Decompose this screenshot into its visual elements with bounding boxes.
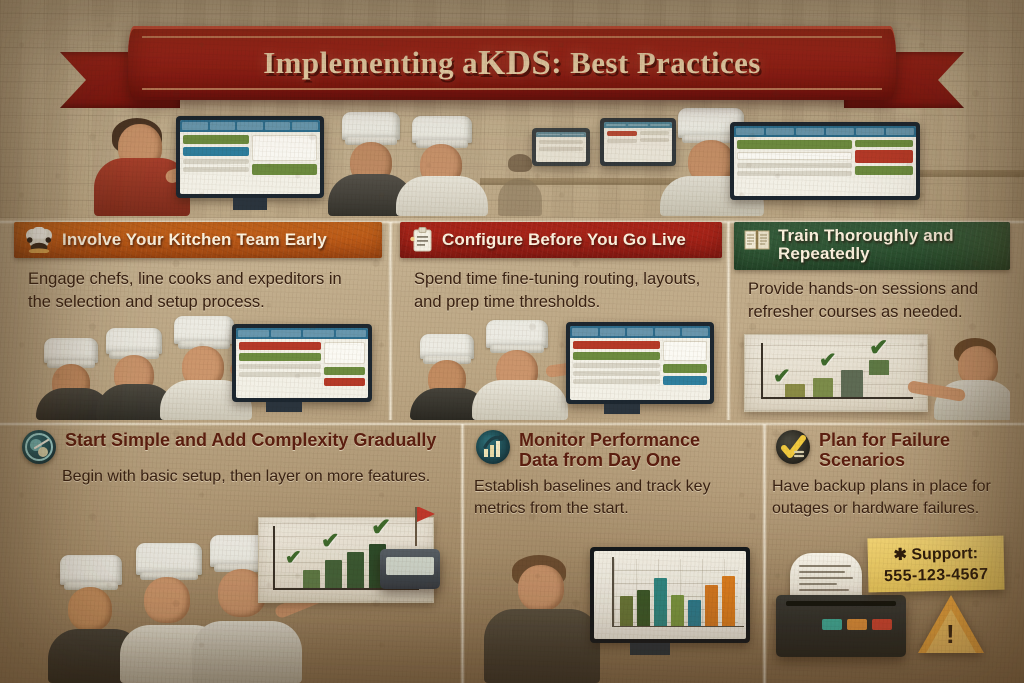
hair xyxy=(508,154,532,172)
checkmark-icon: ✔ xyxy=(869,336,888,359)
checkmark-icon xyxy=(776,430,810,464)
chart-bar xyxy=(620,596,633,626)
chef-hat-icon xyxy=(24,227,54,253)
kds-toolbar xyxy=(734,126,916,137)
checkmark-icon: ✔ xyxy=(819,350,837,371)
page-title: Implementing a KDS: Best Practices xyxy=(128,29,896,97)
kds-screen xyxy=(180,120,320,194)
chef-hat-icon xyxy=(486,320,548,348)
panel-2-body: Spend time fine-tuning routing, layouts,… xyxy=(400,258,722,314)
torso xyxy=(498,178,542,216)
torso xyxy=(192,621,302,683)
chef-hat-icon xyxy=(342,112,400,140)
checkmark-icon: ✔ xyxy=(285,548,302,568)
clipboard-icon xyxy=(410,227,434,253)
kds-terminal-box xyxy=(380,549,440,589)
chart-bar xyxy=(637,590,650,626)
analytics-monitor xyxy=(590,547,750,643)
panel-2-header: Configure Before You Go Live xyxy=(400,222,722,258)
chart-bar xyxy=(654,578,667,626)
panel-train-thoroughly[interactable]: Train Thoroughly and Repeatedly Provide … xyxy=(734,222,1010,420)
open-book-icon xyxy=(744,228,770,251)
analyst-figure xyxy=(484,551,600,683)
panel-6-body: Have backup plans in place for outages o… xyxy=(768,470,1012,520)
panel-6-illustration: ✱ Support: 555-123-4567 ! xyxy=(768,533,1012,683)
kds-tickets xyxy=(180,132,320,194)
torso xyxy=(396,176,488,216)
title-text-kds: KDS xyxy=(478,43,551,83)
panel-3-title: Train Thoroughly and Repeatedly xyxy=(778,227,988,264)
panel-divider-2 xyxy=(726,222,731,420)
panel-start-simple[interactable]: Start Simple and Add Complexity Graduall… xyxy=(14,424,458,683)
chart-bar xyxy=(325,560,342,588)
panel-plan-for-failure[interactable]: Plan for Failure Scenarios Have backup p… xyxy=(768,424,1012,683)
chart-bar xyxy=(813,378,833,397)
panel-5-illustration xyxy=(468,535,758,683)
chef-hat-icon xyxy=(106,328,162,354)
chart-axis-y xyxy=(273,526,275,590)
checkmark-icon: ✔ xyxy=(321,530,339,552)
hero-illustration xyxy=(0,104,1024,216)
panel-1-body: Engage chefs, line cooks and expeditors … xyxy=(14,258,382,314)
support-label: ✱ Support: xyxy=(893,543,978,565)
panel-monitor-performance[interactable]: Monitor Performance Data from Day One Es… xyxy=(468,424,758,683)
panel-divider-1 xyxy=(388,222,393,420)
bar-chart-icon xyxy=(476,430,510,464)
checkmark-icon: ✔ xyxy=(773,366,791,387)
chart-bar xyxy=(722,576,735,626)
kds-monitor-main xyxy=(176,116,324,198)
target-gauge-icon xyxy=(22,430,56,464)
chef-figure-2 xyxy=(396,114,488,216)
monitor-stand xyxy=(604,404,640,414)
panel-divider-4 xyxy=(762,424,767,683)
back-monitor-1 xyxy=(532,128,590,166)
panel-4-heading: Start Simple and Add Complexity Graduall… xyxy=(14,424,458,464)
panel-row-2: Start Simple and Add Complexity Graduall… xyxy=(0,424,1024,683)
monitor-stand xyxy=(266,402,302,412)
support-note: ✱ Support: 555-123-4567 xyxy=(867,536,1004,593)
paper-slot xyxy=(786,601,896,606)
chef-hat-icon xyxy=(420,334,474,359)
head xyxy=(144,577,190,623)
panel-3-illustration: ✔ ✔ ✔ xyxy=(734,328,1010,420)
kds-screen-wide xyxy=(734,126,916,196)
panel-1-header: Involve Your Kitchen Team Early xyxy=(14,222,382,258)
head xyxy=(68,587,112,631)
checkmark-icon: ✔ xyxy=(371,516,391,540)
analytics-chart xyxy=(594,551,746,639)
panel-2-title: Configure Before You Go Live xyxy=(442,231,686,249)
panel-4-illustration: ✔ ✔ ✔ xyxy=(14,507,458,683)
printer-buttons xyxy=(822,619,892,630)
title-text-part1: Implementing a xyxy=(263,45,478,81)
panel-1-illustration xyxy=(14,310,382,420)
panel-4-title: Start Simple and Add Complexity Graduall… xyxy=(65,430,436,450)
receipt-printer xyxy=(776,595,906,657)
torso xyxy=(484,609,600,683)
title-text-part2: : Best Practices xyxy=(551,45,761,81)
chart-bar xyxy=(347,552,364,588)
kds-monitor xyxy=(232,324,372,402)
head xyxy=(518,565,564,611)
chef-hat-icon xyxy=(44,338,98,363)
chef-hat-icon xyxy=(60,555,122,585)
chart-bar xyxy=(671,595,684,626)
panel-6-heading: Plan for Failure Scenarios xyxy=(768,424,1012,470)
panel-row-1: Involve Your Kitchen Team Early Engage c… xyxy=(0,222,1024,420)
chart-bar xyxy=(303,570,320,588)
title-banner: Implementing a KDS: Best Practices xyxy=(0,18,1024,104)
trainer-figure xyxy=(930,336,1010,420)
panel-5-body: Establish baselines and track key metric… xyxy=(468,470,758,520)
kds-toolbar xyxy=(180,120,320,132)
monitor-stand xyxy=(630,643,670,655)
panel-5-title: Monitor Performance Data from Day One xyxy=(519,430,737,470)
warning-exclamation: ! xyxy=(946,619,955,650)
chart-bar xyxy=(688,600,701,626)
panel-6-title: Plan for Failure Scenarios xyxy=(819,430,979,470)
chef-figure-2 xyxy=(472,320,568,420)
panel-configure-before-go-live[interactable]: Configure Before You Go Live Spend time … xyxy=(400,222,722,420)
panel-3-body: Provide hands-on sessions and refresher … xyxy=(734,270,1010,324)
panel-1-title: Involve Your Kitchen Team Early xyxy=(62,231,327,249)
chart-axis-x xyxy=(761,397,913,399)
panel-5-heading: Monitor Performance Data from Day One xyxy=(468,424,758,470)
panel-divider-3 xyxy=(460,424,465,683)
panel-3-header: Train Thoroughly and Repeatedly xyxy=(734,222,1010,270)
kds-monitor xyxy=(566,322,714,404)
chart-bar xyxy=(705,585,718,626)
infographic-poster: Implementing a KDS: Best Practices xyxy=(0,0,1024,683)
torso xyxy=(472,380,568,420)
chart-axis-y xyxy=(761,343,763,399)
red-flag-icon xyxy=(417,507,435,522)
panel-4-body: Begin with basic setup, then layer on mo… xyxy=(14,464,458,488)
monitor-stand xyxy=(233,198,267,210)
training-whiteboard: ✔ ✔ ✔ xyxy=(744,334,928,412)
chef-hat-icon xyxy=(412,116,472,143)
chart-bar xyxy=(869,360,889,375)
panel-involve-kitchen-team[interactable]: Involve Your Kitchen Team Early Engage c… xyxy=(14,222,382,420)
ribbon-body: Implementing a KDS: Best Practices xyxy=(128,26,896,100)
panel-2-illustration xyxy=(400,314,722,420)
support-phone: 555-123-4567 xyxy=(884,565,989,585)
chart-bar xyxy=(841,370,863,397)
chef-hat-icon xyxy=(174,316,234,344)
kds-monitor-wide xyxy=(730,122,920,200)
